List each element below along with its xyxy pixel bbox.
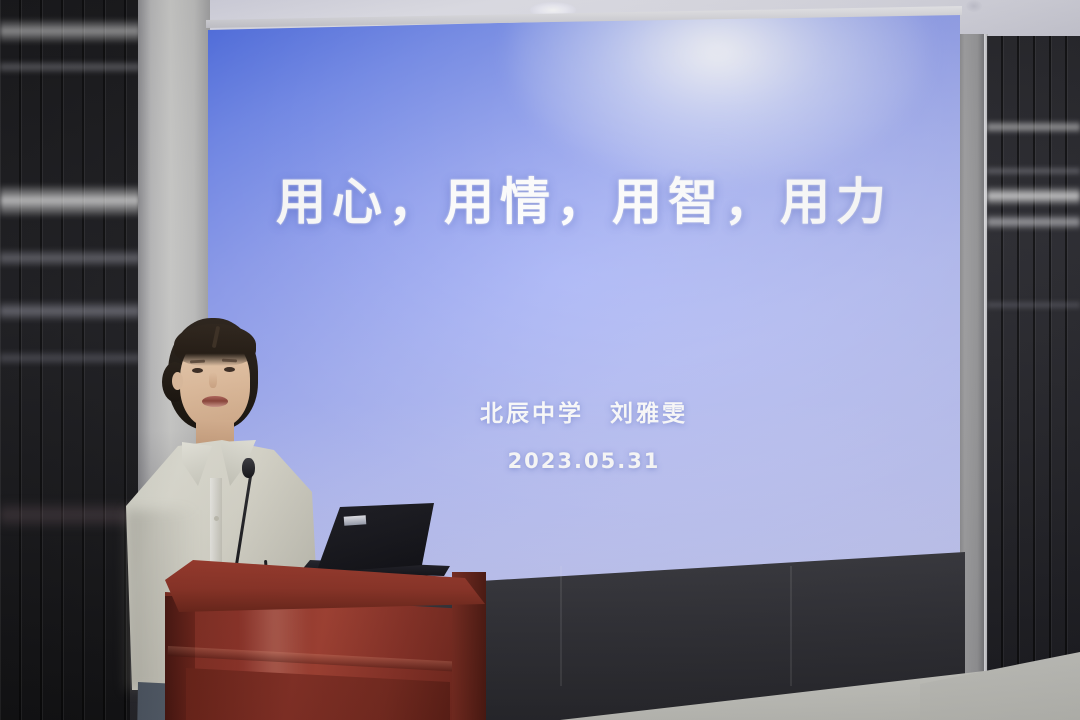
mouth xyxy=(202,396,228,407)
eye xyxy=(224,367,235,372)
ceiling-sprinkler-icon xyxy=(966,0,982,12)
ear xyxy=(172,372,183,390)
slide-title: 用心，用情，用智，用力 xyxy=(208,162,960,234)
wall-seam xyxy=(790,566,792,686)
wall-seam xyxy=(560,566,562,686)
microphone-icon xyxy=(242,458,255,478)
shirt-button xyxy=(214,516,219,521)
right-slat-wall xyxy=(987,36,1080,720)
presentation-photo: 用心，用情，用智，用力 北辰中学 刘雅雯 2023.05.31 xyxy=(0,0,1080,720)
laptop-sticker xyxy=(344,515,367,526)
nose xyxy=(209,372,217,388)
eye xyxy=(192,368,203,373)
